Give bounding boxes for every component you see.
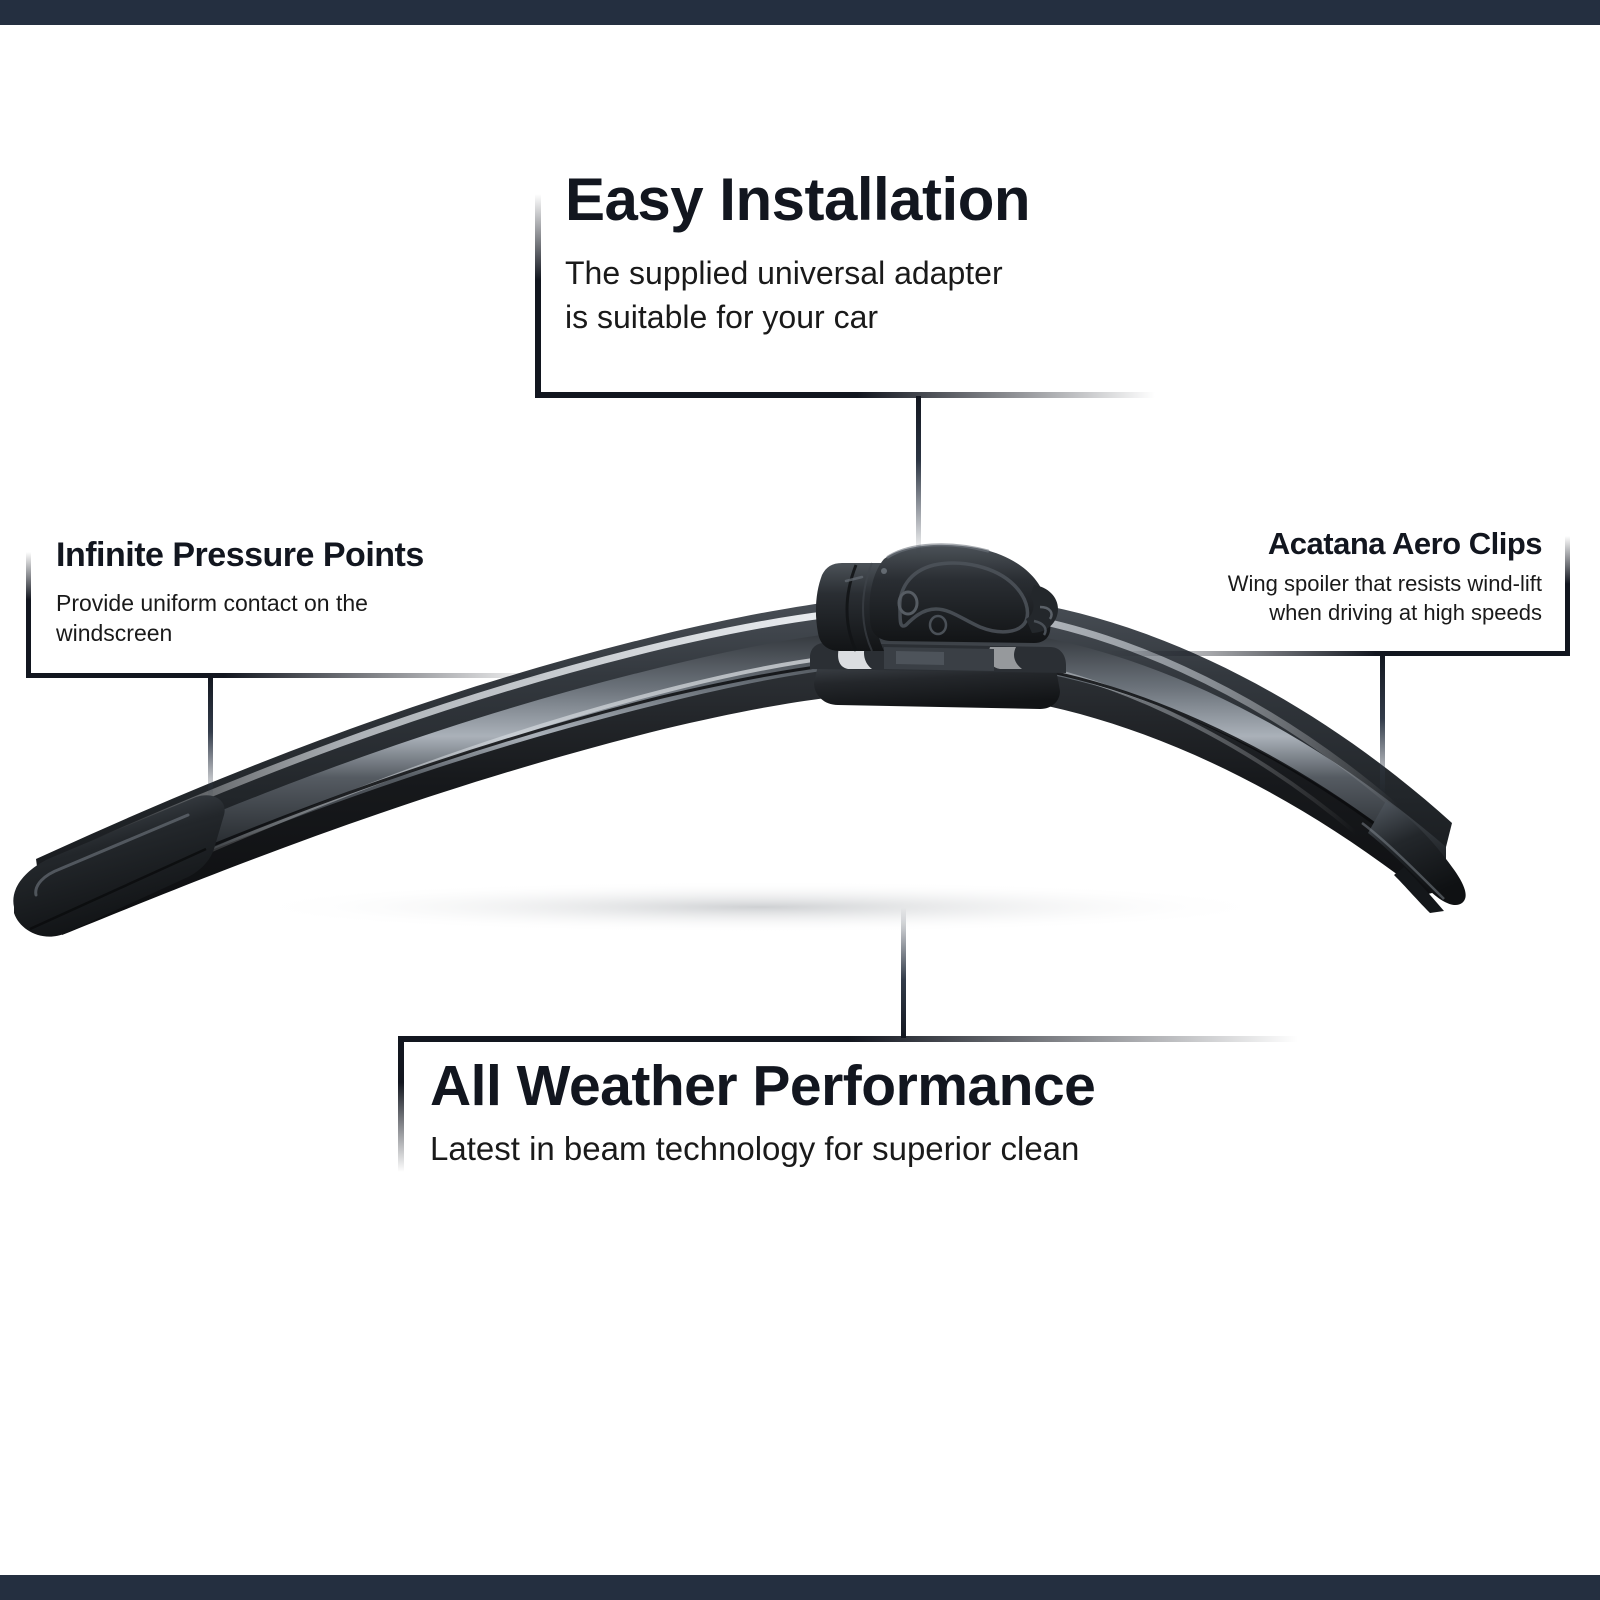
infographic-canvas: Easy Installation The supplied universal… (0, 0, 1600, 1600)
callout-acatana-aero-clips: Acatana Aero Clips Wing spoiler that res… (1108, 528, 1570, 656)
top-rail (0, 0, 1600, 25)
callout-top-body-line-1: The supplied universal adapter (565, 252, 1155, 296)
callout-bottom-body: Latest in beam technology for superior c… (398, 1115, 1298, 1169)
callout-bottom-heading: All Weather Performance (398, 1036, 1298, 1115)
callout-right-body-line-1: Wing spoiler that resists wind-lift (1108, 569, 1542, 598)
callout-left-body: Provide uniform contact on the windscree… (26, 572, 546, 649)
callout-right-body-line-2: when driving at high speeds (1108, 598, 1542, 627)
callout-top-body: The supplied universal adapter is suitab… (535, 230, 1155, 339)
callout-infinite-pressure-points: Infinite Pressure Points Provide uniform… (26, 538, 546, 678)
callout-right-body: Wing spoiler that resists wind-lift when… (1108, 559, 1570, 628)
callout-all-weather-performance: All Weather Performance Latest in beam t… (398, 1036, 1298, 1172)
callout-left-bottom-border (26, 673, 546, 678)
callout-top-body-line-2: is suitable for your car (565, 296, 1155, 340)
callout-right-heading: Acatana Aero Clips (1108, 528, 1570, 559)
callout-top-bottom-border (535, 392, 1155, 398)
callout-right-bottom-border (1108, 651, 1570, 656)
callout-left-body-line-2: windscreen (56, 618, 546, 648)
callout-easy-installation: Easy Installation The supplied universal… (535, 170, 1155, 398)
callout-left-heading: Infinite Pressure Points (26, 538, 546, 572)
bottom-rail (0, 1575, 1600, 1600)
callout-left-body-line-1: Provide uniform contact on the (56, 588, 546, 618)
callout-top-heading: Easy Installation (535, 170, 1155, 230)
